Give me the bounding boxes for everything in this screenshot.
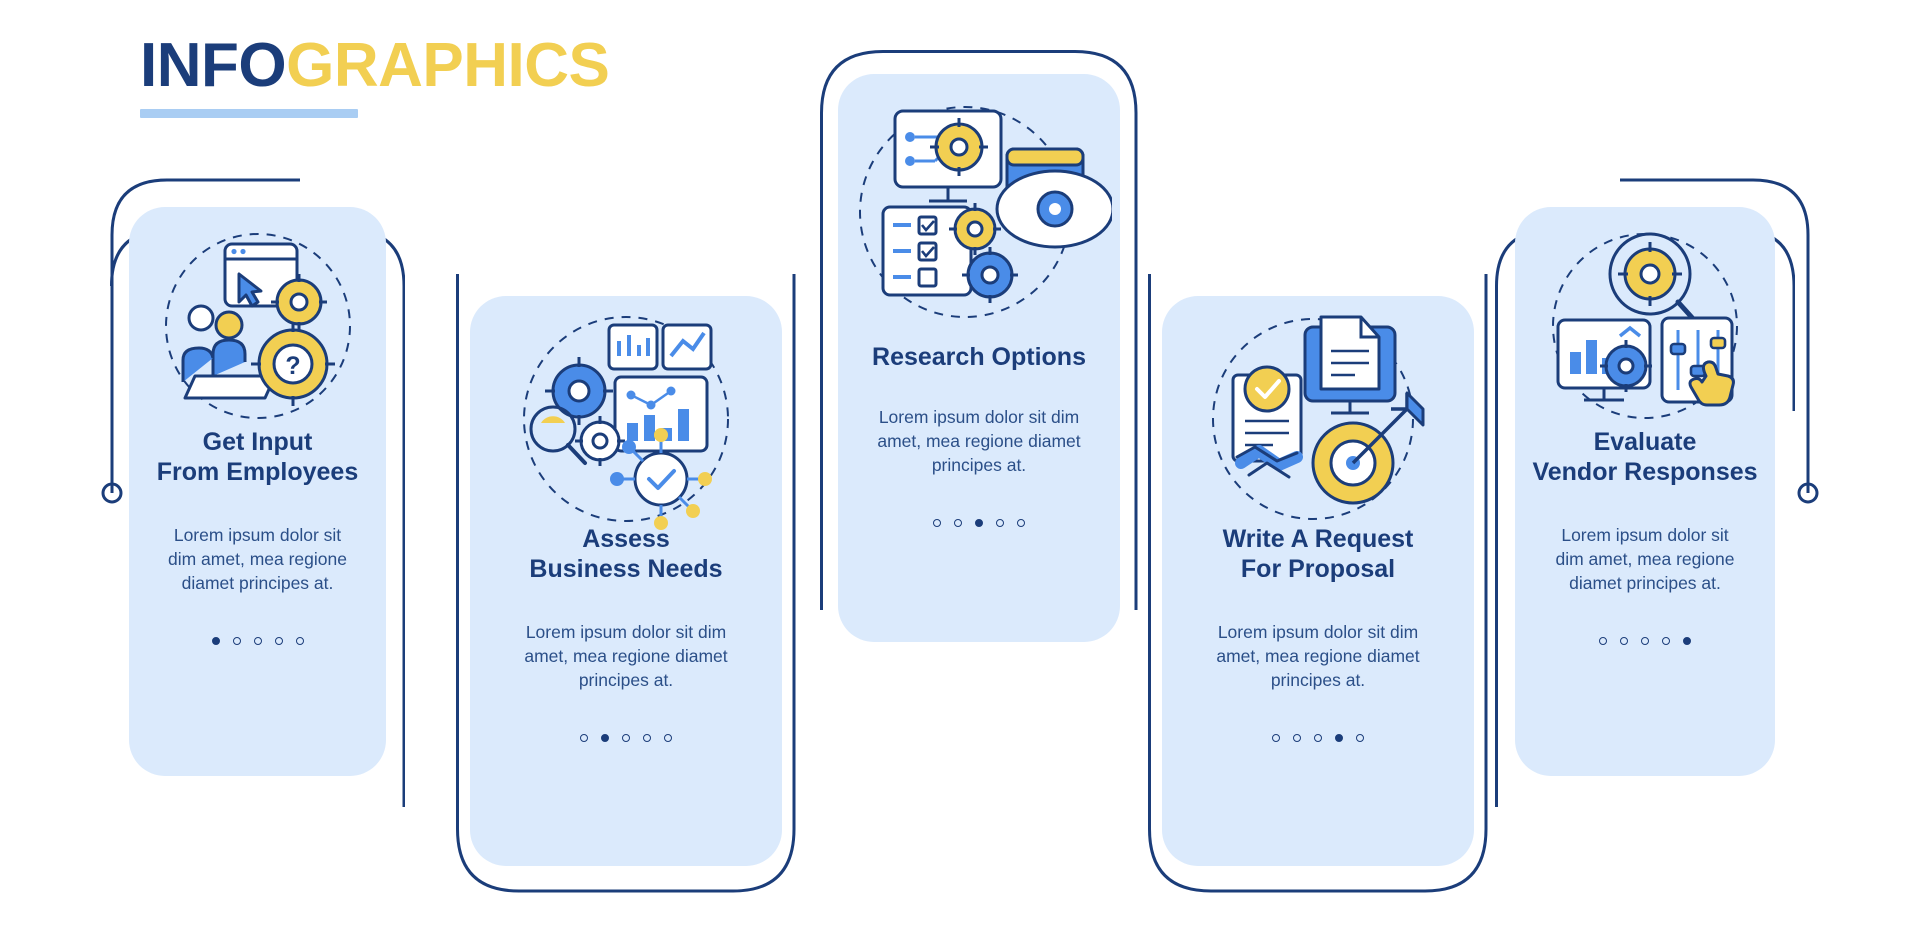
page-title-block: INFOGRAPHICS [140, 35, 609, 118]
step-card-2-content: Assess Business Needs Lorem ipsum dolor … [470, 524, 782, 742]
dot-2 [233, 637, 241, 645]
dot-2 [954, 519, 962, 527]
svg-text:?: ? [285, 352, 300, 380]
dot-4 [275, 637, 283, 645]
dot-5 [664, 734, 672, 742]
step-card-5-description: Lorem ipsum dolor sit dim amet, mea regi… [1515, 523, 1775, 595]
dot-1 [933, 519, 941, 527]
step-card-2-body: Assess Business Needs Lorem ipsum dolor … [470, 296, 782, 866]
step-card-1[interactable]: ? Get Input From Employees Lorem ipsum d… [110, 176, 405, 808]
step-card-4-content: Write A Request For Proposal Lorem ipsum… [1162, 524, 1474, 742]
step-card-5-dots [1515, 637, 1775, 645]
page-title-primary: INFO [140, 31, 286, 100]
step-card-3-content: Research Options Lorem ipsum dolor sit d… [838, 342, 1120, 527]
vendor-evaluation-icon [1515, 223, 1775, 443]
step-card-2[interactable]: Assess Business Needs Lorem ipsum dolor … [456, 274, 796, 894]
step-card-5-content: Evaluate Vendor Responses Lorem ipsum do… [1515, 427, 1775, 645]
dot-2 [601, 734, 609, 742]
dot-2 [1620, 637, 1628, 645]
step-card-5-title: Evaluate Vendor Responses [1515, 427, 1775, 487]
step-card-4[interactable]: Write A Request For Proposal Lorem ipsum… [1148, 274, 1488, 894]
dot-5 [296, 637, 304, 645]
step-card-4-title: Write A Request For Proposal [1162, 524, 1474, 584]
step-card-2-description: Lorem ipsum dolor sit dim amet, mea regi… [470, 620, 782, 692]
dot-5 [1356, 734, 1364, 742]
dot-4 [1335, 734, 1343, 742]
dot-3 [1641, 637, 1649, 645]
proposal-document-icon [1162, 308, 1474, 538]
dot-2 [1293, 734, 1301, 742]
step-card-1-body: ? Get Input From Employees Lorem ipsum d… [129, 207, 386, 776]
dot-4 [1662, 637, 1670, 645]
employee-feedback-icon: ? [129, 223, 386, 443]
step-card-4-dots [1162, 734, 1474, 742]
step-card-2-title: Assess Business Needs [470, 524, 782, 584]
dot-3 [1314, 734, 1322, 742]
dot-3 [975, 519, 983, 527]
dot-1 [580, 734, 588, 742]
dot-3 [622, 734, 630, 742]
step-card-3-title: Research Options [838, 342, 1120, 372]
dot-1 [1272, 734, 1280, 742]
step-card-2-dots [470, 734, 782, 742]
business-analysis-icon [470, 308, 782, 538]
dot-4 [643, 734, 651, 742]
step-card-1-content: Get Input From Employees Lorem ipsum dol… [129, 427, 386, 645]
page-title-secondary: GRAPHICS [286, 31, 609, 100]
step-card-1-title: Get Input From Employees [129, 427, 386, 487]
step-card-3-body: Research Options Lorem ipsum dolor sit d… [838, 74, 1120, 642]
dot-1 [1599, 637, 1607, 645]
step-card-4-description: Lorem ipsum dolor sit dim amet, mea regi… [1162, 620, 1474, 692]
dot-5 [1683, 637, 1691, 645]
step-card-4-body: Write A Request For Proposal Lorem ipsum… [1162, 296, 1474, 866]
step-card-1-dots [129, 637, 386, 645]
step-card-3[interactable]: Research Options Lorem ipsum dolor sit d… [820, 50, 1138, 610]
step-card-5-body: Evaluate Vendor Responses Lorem ipsum do… [1515, 207, 1775, 776]
title-underline [140, 109, 358, 118]
dot-4 [996, 519, 1004, 527]
dot-3 [254, 637, 262, 645]
dot-1 [212, 637, 220, 645]
step-card-3-description: Lorem ipsum dolor sit dim amet, mea regi… [838, 405, 1120, 477]
step-card-1-description: Lorem ipsum dolor sit dim amet, mea regi… [129, 523, 386, 595]
dot-5 [1017, 519, 1025, 527]
research-options-icon [838, 92, 1120, 352]
step-card-3-dots [838, 519, 1120, 527]
page-title: INFOGRAPHICS [140, 35, 609, 97]
step-card-5[interactable]: Evaluate Vendor Responses Lorem ipsum do… [1495, 176, 1795, 808]
